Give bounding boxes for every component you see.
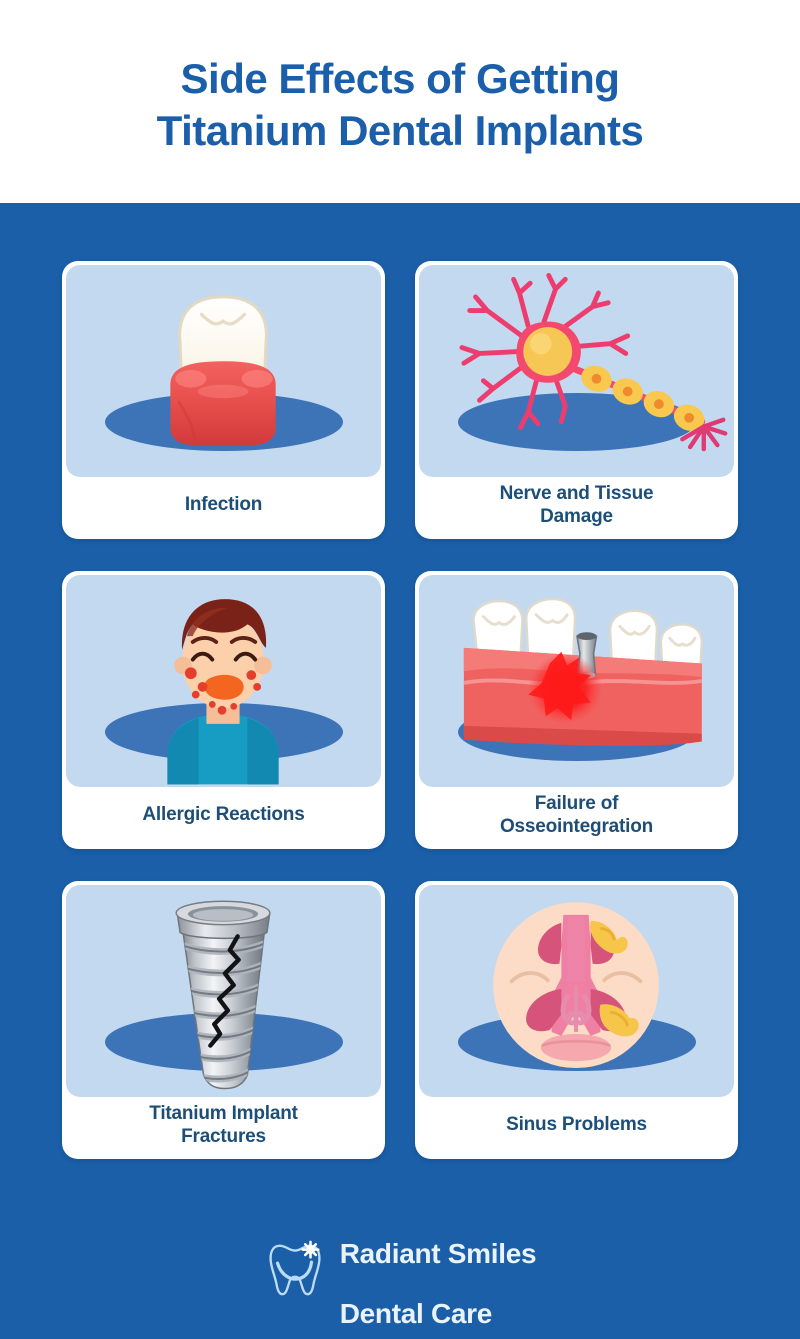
person-with-rash-icon [66,575,381,787]
card-art-nerve [419,265,734,477]
content-panel: Infection [0,203,800,1339]
page-title-line-1: Side Effects of Getting [157,53,644,104]
gums-implant-inflammation-icon [419,575,734,787]
tooth-with-inflamed-gum-icon [66,265,381,477]
cracked-screw-implant-icon [66,885,381,1097]
card-titanium-implant-fractures[interactable]: Titanium Implant Fractures [62,881,385,1159]
card-art-osseointegration [419,575,734,787]
face-sinus-cavity-icon [419,885,734,1097]
neuron-nerve-cell-icon [419,265,734,477]
card-label-nerve: Nerve and Tissue Damage [419,477,734,539]
card-label-allergic: Allergic Reactions [66,787,381,849]
card-label-infection: Infection [66,477,381,539]
card-art-sinus [419,885,734,1097]
header: Side Effects of Getting Titanium Dental … [0,0,800,203]
card-sinus-problems[interactable]: Sinus Problems [415,881,738,1159]
card-label-osseointegration: Failure of Osseointegration [419,787,734,849]
card-art-allergic [66,575,381,787]
card-label-fracture: Titanium Implant Fractures [66,1097,381,1159]
brand-line-1: Radiant Smiles [340,1238,537,1269]
infographic-page: Side Effects of Getting Titanium Dental … [0,0,800,1339]
side-effects-grid: Infection [62,261,738,1159]
card-art-infection [66,265,381,477]
card-infection[interactable]: Infection [62,261,385,539]
card-art-fracture [66,885,381,1097]
footer-branding: Radiant Smiles Dental Care [0,1199,800,1339]
page-title-line-2: Titanium Dental Implants [157,105,644,156]
card-nerve-and-tissue-damage[interactable]: Nerve and Tissue Damage [415,261,738,539]
card-failure-of-osseointegration[interactable]: Failure of Osseointegration [415,571,738,849]
card-label-sinus: Sinus Problems [419,1097,734,1159]
brand-line-2: Dental Care [340,1298,492,1329]
tooth-sparkle-logo-icon [264,1238,326,1300]
page-title: Side Effects of Getting Titanium Dental … [117,53,684,155]
card-allergic-reactions[interactable]: Allergic Reactions [62,571,385,849]
brand-name: Radiant Smiles Dental Care [340,1210,537,1329]
